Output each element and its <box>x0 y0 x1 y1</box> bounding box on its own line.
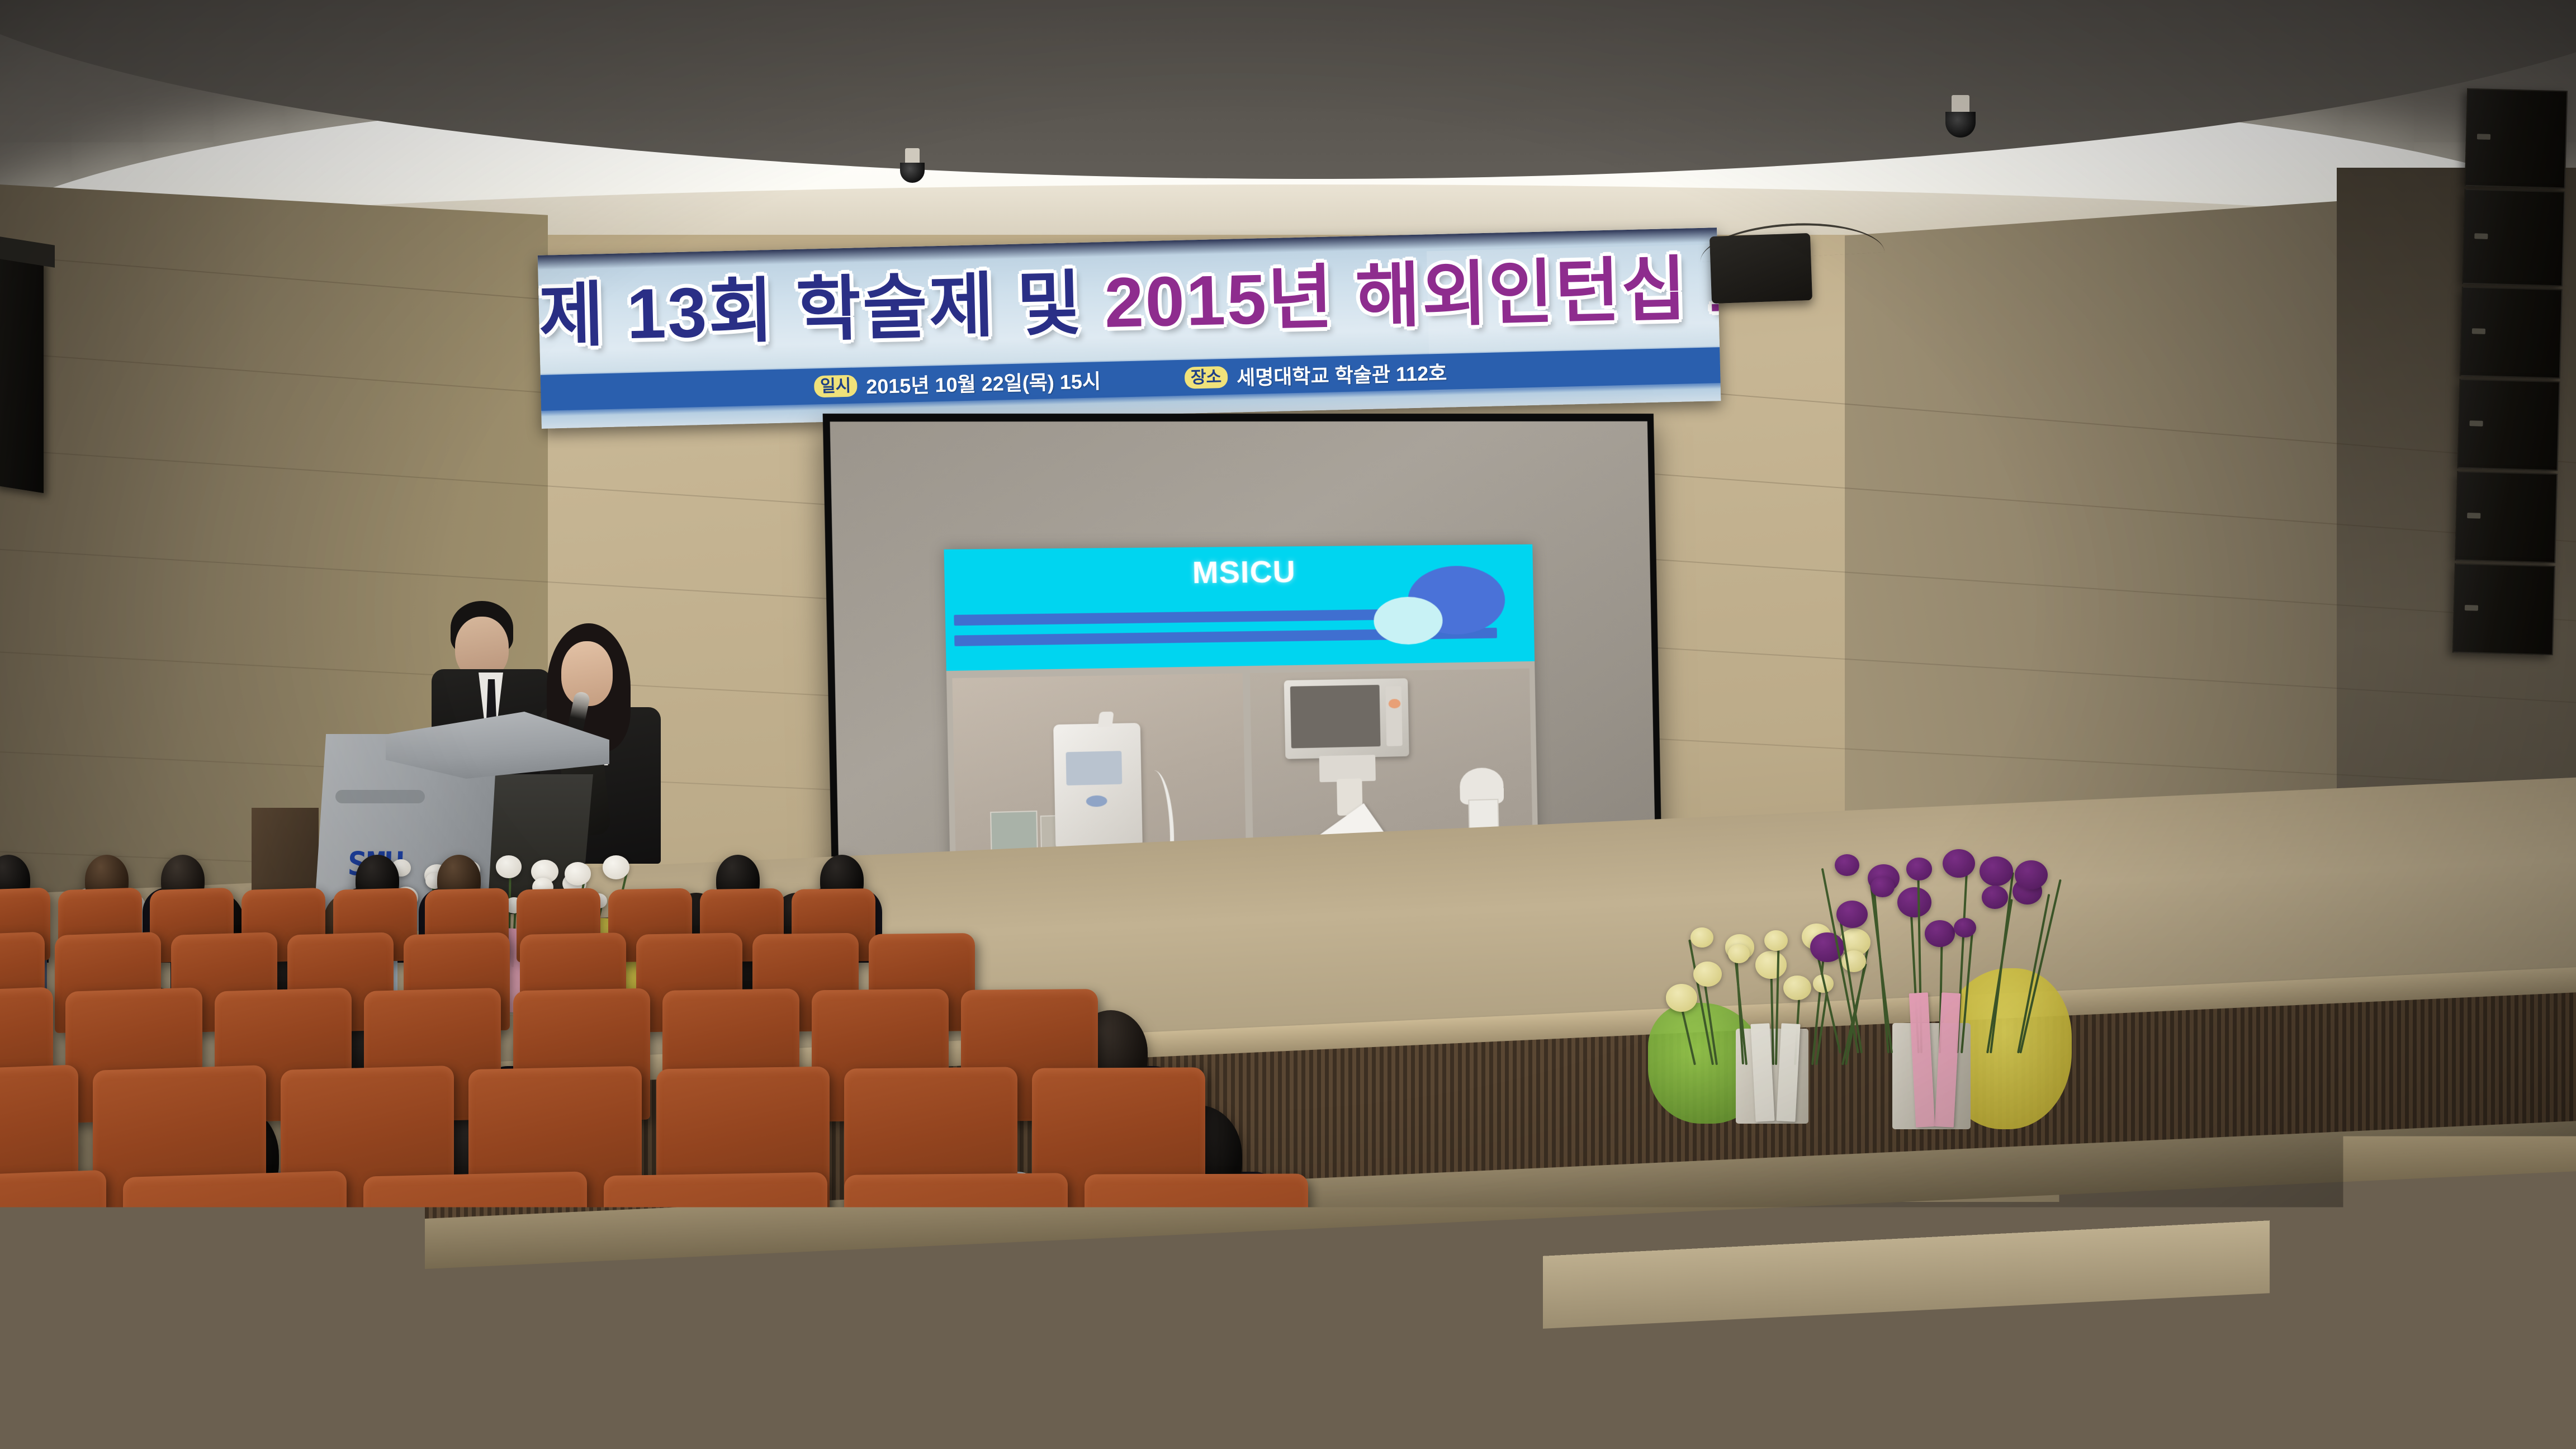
line-array-speaker-right <box>2452 88 2568 655</box>
orchid-bloom <box>1980 856 2014 886</box>
ceiling-dome-camera-left-icon <box>900 148 925 185</box>
event-banner: 제 13회 학술제 및 2015년 해외인턴십 보고 일시 2015년 10월 … <box>538 228 1721 429</box>
banner-venue-group: 장소 세명대학교 학술관 112호 <box>1184 357 1447 392</box>
speaker-cabinet <box>2452 563 2555 656</box>
speaker-cabinet <box>2465 88 2568 189</box>
slide-header: MSICU <box>944 544 1535 671</box>
vital-signs-monitor <box>1053 723 1143 853</box>
auditorium-photo: 제 13회 학술제 및 2015년 해외인턴십 보고 일시 2015년 10월 … <box>0 0 2576 1449</box>
orchid-bloom <box>1906 858 1932 880</box>
speaker-cabinet <box>2455 471 2558 563</box>
audience-seating <box>0 883 2576 1449</box>
speaker-bracket <box>2467 513 2480 519</box>
monitor-display <box>1066 751 1123 786</box>
ceiling-dome-camera-right-icon <box>1945 95 1976 139</box>
speaker-bracket <box>2464 605 2478 611</box>
orchid-bloom <box>603 855 629 879</box>
monitor-mount-arm <box>1319 755 1376 782</box>
orchid-bloom <box>1943 849 1975 878</box>
orchid-bloom <box>1835 854 1859 876</box>
speaker-bracket <box>2469 420 2483 427</box>
banner-title-part2: 2015년 해외인턴십 보고 <box>1104 246 1721 342</box>
banner-info-bar: 일시 2015년 10월 22일(목) 15시 장소 세명대학교 학술관 112… <box>541 347 1721 411</box>
auditorium-seat[interactable] <box>474 1305 765 1449</box>
banner-venue-text: 세명대학교 학술관 112호 <box>1236 357 1447 391</box>
wall-speaker-left <box>0 250 44 493</box>
banner-date-group: 일시 2015년 10월 22일(목) 15시 <box>813 365 1101 401</box>
orchid-bloom <box>565 862 591 885</box>
patient-monitor-buttons <box>1386 686 1403 746</box>
orchid-bloom <box>496 855 522 878</box>
ceiling-projector <box>1710 233 1812 304</box>
speaker-cabinet <box>2462 189 2565 287</box>
monitor-handle <box>1097 712 1113 727</box>
auditorium-seat[interactable] <box>164 1304 455 1449</box>
patient-monitor-screen <box>1290 685 1381 748</box>
speaker-bracket <box>2476 134 2490 140</box>
podium-slot <box>335 790 425 803</box>
banner-title-part1: 제 13회 학술제 및 <box>538 263 1106 356</box>
monitor-button <box>1086 795 1107 807</box>
auditorium-seat[interactable] <box>0 1303 145 1449</box>
banner-venue-badge: 장소 <box>1184 366 1228 389</box>
patient-monitor <box>1284 678 1409 759</box>
slide-header-bar-1 <box>954 609 1417 626</box>
auditorium-seat[interactable] <box>1093 1308 1384 1449</box>
banner-date-badge: 일시 <box>814 375 858 397</box>
banner-date-text: 2015년 10월 22일(목) 15시 <box>866 365 1101 400</box>
speaker-cabinet <box>2460 287 2563 379</box>
speaker-cabinet <box>2457 379 2560 471</box>
auditorium-seat[interactable] <box>784 1306 1074 1449</box>
speaker-bracket <box>2474 233 2488 239</box>
speaker-bracket <box>2471 328 2485 334</box>
patient-monitor-indicator <box>1388 699 1400 708</box>
